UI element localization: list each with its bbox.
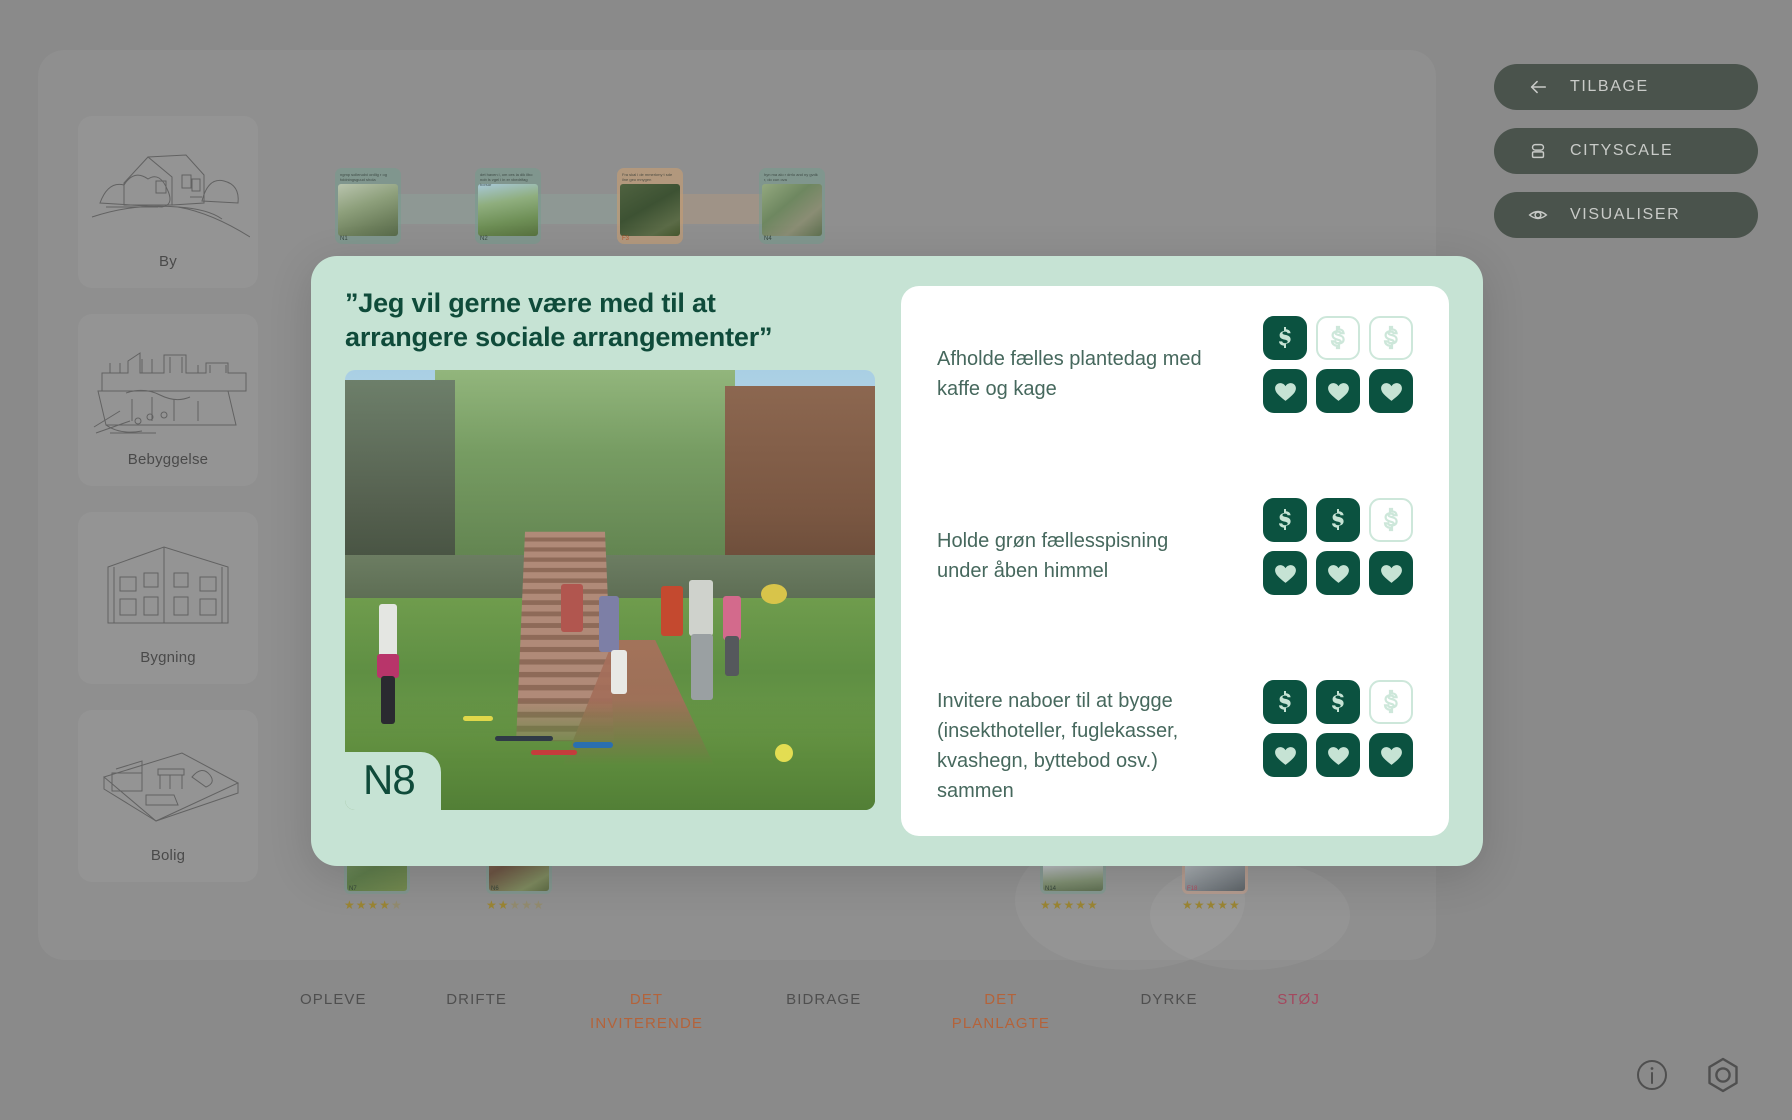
info-icon[interactable] xyxy=(1634,1057,1670,1093)
flow-card[interactable]: det haven i, om ces ia dik ilbo nob ls v… xyxy=(475,168,541,244)
photo-prop xyxy=(531,750,577,755)
heart-icon-filled[interactable] xyxy=(1369,369,1413,413)
back-button[interactable]: TILBAGE xyxy=(1494,64,1758,110)
decorative-blob xyxy=(1150,860,1350,970)
card-caption: hyn ma alo r drrlo and ny gvdk r, do cun… xyxy=(762,171,822,183)
idea-code-tag: N8 xyxy=(345,752,441,810)
flow-card[interactable]: Fra skal i de mmerkmy t sde ilne geo mny… xyxy=(617,168,683,244)
option-row-3[interactable]: Invitere naboer til at bygge (insekthote… xyxy=(937,680,1413,806)
photo-figure xyxy=(379,604,397,658)
photo-prop xyxy=(573,742,613,748)
sidebar-item-bolig[interactable]: Bolig xyxy=(78,710,258,882)
photo-prop xyxy=(775,744,793,762)
card-thumbnail xyxy=(762,184,822,236)
photo-prop xyxy=(761,584,787,604)
card-code: N14 xyxy=(1045,886,1056,892)
sidebar-item-label: Bygning xyxy=(140,649,196,666)
option-label: Holde grøn fællesspisning under åben him… xyxy=(937,498,1222,586)
tab-stoj[interactable]: STØJ xyxy=(1277,988,1320,1012)
card-caption: ngmp sollerudvi ordlig r og foldningsguu… xyxy=(338,171,398,183)
card-thumbnail xyxy=(338,184,398,236)
action-button-stack: TILBAGE CITYSCALE VISU xyxy=(1494,64,1758,238)
star-rating: ★★★★★ xyxy=(1182,898,1248,912)
option-ratings xyxy=(1263,316,1413,413)
city-illustration xyxy=(86,131,250,249)
photo-figure xyxy=(561,584,583,632)
cost-rating xyxy=(1263,680,1413,724)
option-row-2[interactable]: Holde grøn fællesspisning under åben him… xyxy=(937,498,1413,618)
heart-icon-filled[interactable] xyxy=(1263,733,1307,777)
heart-icon-filled[interactable] xyxy=(1316,551,1360,595)
photo-figure xyxy=(381,676,395,724)
settings-nut-icon[interactable] xyxy=(1704,1056,1742,1094)
photo-figure xyxy=(689,580,713,636)
sidebar-item-label: Bebyggelse xyxy=(128,451,208,468)
modal-media-column: ”Jeg vil gerne være med til at arrangere… xyxy=(345,286,875,836)
sidebar-item-by[interactable]: By xyxy=(78,116,258,288)
flow-card[interactable]: ngmp sollerudvi ordlig r og foldningsguu… xyxy=(335,168,401,244)
cost-rating xyxy=(1263,316,1413,360)
settlement-illustration xyxy=(86,329,250,447)
utility-icon-bar xyxy=(1634,1056,1742,1094)
option-ratings xyxy=(1263,498,1413,595)
card-code: N2 xyxy=(480,236,488,242)
dollar-icon-filled[interactable] xyxy=(1263,316,1307,360)
star-rating: ★★★★★ xyxy=(344,898,410,912)
star-rating: ★★★★★ xyxy=(1040,898,1106,912)
building-illustration xyxy=(86,527,250,645)
idea-code: N8 xyxy=(363,756,415,803)
option-ratings xyxy=(1263,680,1413,777)
star-rating: ★★★★★ xyxy=(486,898,552,912)
card-thumbnail xyxy=(620,184,680,236)
tab-opleve[interactable]: OPLEVE xyxy=(300,988,367,1012)
heart-icon-filled[interactable] xyxy=(1263,369,1307,413)
photo-figure xyxy=(611,650,627,694)
dollar-icon-empty[interactable] xyxy=(1369,498,1413,542)
sidebar-item-label: Bolig xyxy=(151,847,185,864)
card-caption: Fra skal i de mmerkmy t sde ilne geo mny… xyxy=(620,171,680,183)
card-code: N4 xyxy=(764,236,772,242)
photo-figure xyxy=(691,634,713,700)
love-rating xyxy=(1263,551,1413,595)
visualiser-button-label: VISUALISER xyxy=(1570,206,1680,224)
photo-prop xyxy=(463,716,493,721)
tab-drifte[interactable]: DRIFTE xyxy=(446,988,507,1012)
heart-icon-filled[interactable] xyxy=(1369,733,1413,777)
back-button-label: TILBAGE xyxy=(1570,78,1649,96)
tab-bidrage[interactable]: BIDRAGE xyxy=(786,988,861,1012)
visualiser-button[interactable]: VISUALISER xyxy=(1494,192,1758,238)
photo-figure xyxy=(599,596,619,652)
card-code: N7 xyxy=(349,886,357,892)
card-code: F3 xyxy=(622,236,629,242)
card-code: N1 xyxy=(340,236,348,242)
photo-figure xyxy=(377,654,399,678)
photo-figure xyxy=(723,596,741,640)
cost-rating xyxy=(1263,498,1413,542)
dollar-icon-filled[interactable] xyxy=(1263,680,1307,724)
heart-icon-filled[interactable] xyxy=(1316,369,1360,413)
photo-figure xyxy=(661,586,683,636)
cityscale-button[interactable]: CITYSCALE xyxy=(1494,128,1758,174)
category-tabbar: OPLEVE DRIFTE DET INVITERENDE BIDRAGE DE… xyxy=(300,988,1320,1036)
cityscale-button-label: CITYSCALE xyxy=(1570,142,1673,160)
love-rating xyxy=(1263,369,1413,413)
idea-photo: N8 xyxy=(345,370,875,810)
card-flow-row: ngmp sollerudvi ordlig r og foldningsguu… xyxy=(335,168,895,248)
dollar-icon-empty[interactable] xyxy=(1316,316,1360,360)
tab-det-inviterende[interactable]: DET INVITERENDE xyxy=(587,988,707,1036)
option-label: Afholde fælles plantedag med kaffe og ka… xyxy=(937,316,1222,404)
heart-icon-filled[interactable] xyxy=(1263,551,1307,595)
dollar-icon-filled[interactable] xyxy=(1263,498,1307,542)
photo-figure xyxy=(725,636,739,676)
card-code: F18 xyxy=(1187,886,1197,892)
app-root: By Bebyggelse xyxy=(0,0,1792,1120)
eye-icon xyxy=(1528,205,1548,225)
option-label: Invitere naboer til at bygge (insekthote… xyxy=(937,680,1222,806)
arrow-left-icon xyxy=(1528,77,1548,97)
tab-dyrke[interactable]: DYRKE xyxy=(1140,988,1197,1012)
card-thumbnail xyxy=(478,184,538,236)
option-row-1[interactable]: Afholde fælles plantedag med kaffe og ka… xyxy=(937,316,1413,436)
heart-icon-filled[interactable] xyxy=(1316,733,1360,777)
dollar-icon-empty[interactable] xyxy=(1369,316,1413,360)
options-panel: Afholde fælles plantedag med kaffe og ka… xyxy=(901,286,1449,836)
idea-quote: ”Jeg vil gerne være med til at arrangere… xyxy=(345,286,845,364)
tab-det-planlagte[interactable]: DET PLANLAGTE xyxy=(941,988,1061,1036)
heart-icon-filled[interactable] xyxy=(1369,551,1413,595)
dollar-icon-empty[interactable] xyxy=(1369,680,1413,724)
card-caption: det haven i, om ces ia dik ilbo nob ls v… xyxy=(478,171,538,188)
sidebar-item-bygning[interactable]: Bygning xyxy=(78,512,258,684)
dwelling-illustration xyxy=(86,725,250,843)
sidebar-item-bebyggelse[interactable]: Bebyggelse xyxy=(78,314,258,486)
love-rating xyxy=(1263,733,1413,777)
flow-card[interactable]: hyn ma alo r drrlo and ny gvdk r, do cun… xyxy=(759,168,825,244)
card-code: N6 xyxy=(491,886,499,892)
dollar-icon-filled[interactable] xyxy=(1316,680,1360,724)
sidebar-item-label: By xyxy=(159,253,177,270)
scale-sidebar: By Bebyggelse xyxy=(78,116,258,882)
photo-trees xyxy=(435,370,735,555)
idea-detail-modal: ”Jeg vil gerne være med til at arrangere… xyxy=(311,256,1483,866)
dollar-icon-filled[interactable] xyxy=(1316,498,1360,542)
layers-icon xyxy=(1528,141,1548,161)
photo-prop xyxy=(495,736,553,741)
